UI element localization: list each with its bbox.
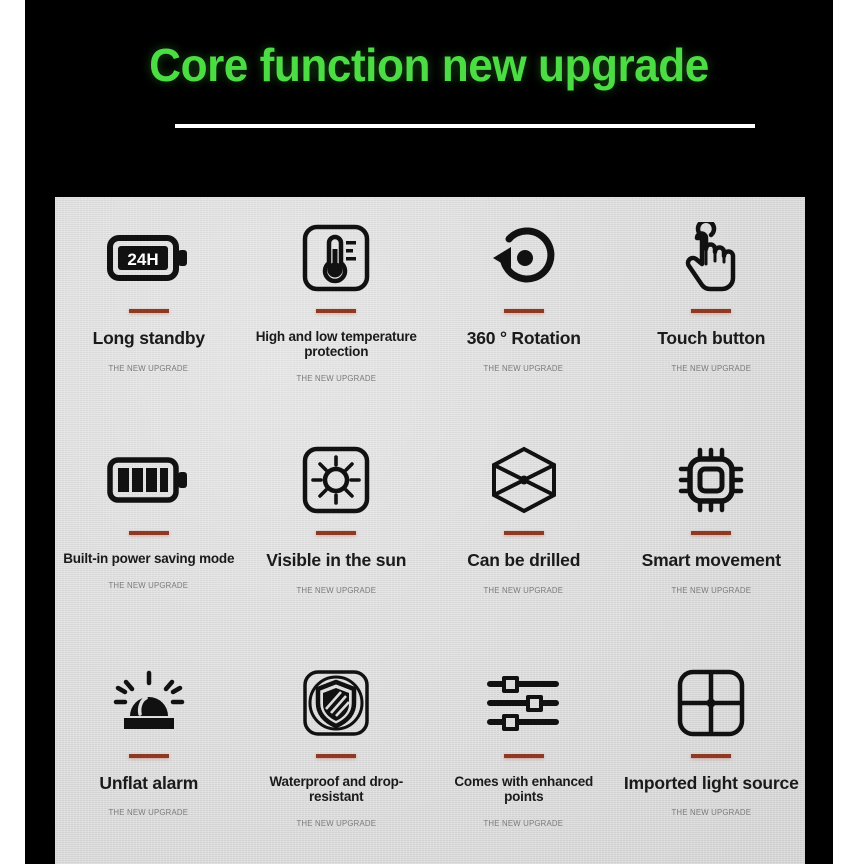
feature-subtitle: THE NEW UPGRADE <box>109 807 189 817</box>
feature-title: Can be drilled <box>463 551 584 571</box>
accent-dash <box>316 309 356 313</box>
accent-dash <box>316 531 356 535</box>
feature-card[interactable]: Built-in power saving mode THE NEW UPGRA… <box>55 419 243 641</box>
feature-subtitle: THE NEW UPGRADE <box>296 818 376 828</box>
touch-hand-icon <box>680 219 742 297</box>
feature-title: Touch button <box>653 329 769 349</box>
feature-card[interactable]: Touch button THE NEW UPGRADE <box>618 197 806 419</box>
feature-subtitle: THE NEW UPGRADE <box>484 585 564 595</box>
feature-title: Long standby <box>89 329 209 349</box>
feature-subtitle: THE NEW UPGRADE <box>484 818 564 828</box>
accent-dash <box>316 754 356 758</box>
accent-dash <box>504 531 544 535</box>
feature-title: Smart movement <box>638 551 785 571</box>
poster-frame: Core function new upgrade 24H Long stand… <box>0 0 864 864</box>
battery-24h-icon: 24H <box>107 219 191 297</box>
feature-title: Built-in power saving mode <box>59 551 238 566</box>
feature-subtitle: THE NEW UPGRADE <box>109 580 189 590</box>
feature-card[interactable]: 24H Long standby THE NEW UPGRADE <box>55 197 243 419</box>
thermometer-icon <box>301 219 371 297</box>
feature-subtitle: THE NEW UPGRADE <box>671 807 751 817</box>
feature-card[interactable]: High and low temperature protection THE … <box>243 197 431 419</box>
feature-title: 360 ° Rotation <box>463 329 585 349</box>
feature-title: Visible in the sun <box>262 551 410 571</box>
feature-card[interactable]: Waterproof and drop-resistant THE NEW UP… <box>243 642 431 864</box>
sliders-icon <box>486 664 562 742</box>
header-banner: Core function new upgrade <box>25 0 833 197</box>
accent-dash <box>504 754 544 758</box>
feature-subtitle: THE NEW UPGRADE <box>109 363 189 373</box>
accent-dash <box>129 309 169 313</box>
feature-title: Imported light source <box>620 774 803 794</box>
feature-title: High and low temperature protection <box>243 329 431 359</box>
feature-title: Unflat alarm <box>95 774 202 794</box>
features-panel: 24H Long standby THE NEW UPGRADE <box>55 197 805 864</box>
feature-subtitle: THE NEW UPGRADE <box>296 585 376 595</box>
feature-card[interactable]: Comes with enhanced points THE NEW UPGRA… <box>430 642 618 864</box>
accent-dash <box>691 531 731 535</box>
feature-card[interactable]: Unflat alarm THE NEW UPGRADE <box>55 642 243 864</box>
feature-title: Comes with enhanced points <box>430 774 618 804</box>
rotation-360-icon <box>487 219 561 297</box>
accent-dash <box>691 309 731 313</box>
accent-dash <box>504 309 544 313</box>
feature-subtitle: THE NEW UPGRADE <box>296 373 376 383</box>
feature-subtitle: THE NEW UPGRADE <box>671 363 751 373</box>
feature-card[interactable]: 360 ° Rotation THE NEW UPGRADE <box>430 197 618 419</box>
battery-full-icon <box>107 441 191 519</box>
svg-text:24H: 24H <box>127 250 158 269</box>
sun-icon <box>301 441 371 519</box>
accent-dash <box>129 531 169 535</box>
accent-dash <box>691 754 731 758</box>
siren-alarm-icon <box>110 664 188 742</box>
feature-card[interactable]: Visible in the sun THE NEW UPGRADE <box>243 419 431 641</box>
cpu-chip-icon <box>675 441 747 519</box>
page-title: Core function new upgrade <box>41 38 817 92</box>
light-panel-quad-icon <box>676 664 746 742</box>
feature-card[interactable]: Smart movement THE NEW UPGRADE <box>618 419 806 641</box>
title-divider <box>175 124 755 128</box>
features-grid: 24H Long standby THE NEW UPGRADE <box>55 197 805 864</box>
hexagon-drill-icon <box>488 441 560 519</box>
feature-card[interactable]: Can be drilled THE NEW UPGRADE <box>430 419 618 641</box>
accent-dash <box>129 754 169 758</box>
feature-subtitle: THE NEW UPGRADE <box>484 363 564 373</box>
shield-waterproof-icon <box>301 664 371 742</box>
feature-subtitle: THE NEW UPGRADE <box>671 585 751 595</box>
feature-title: Waterproof and drop-resistant <box>243 774 431 804</box>
feature-card[interactable]: Imported light source THE NEW UPGRADE <box>618 642 806 864</box>
